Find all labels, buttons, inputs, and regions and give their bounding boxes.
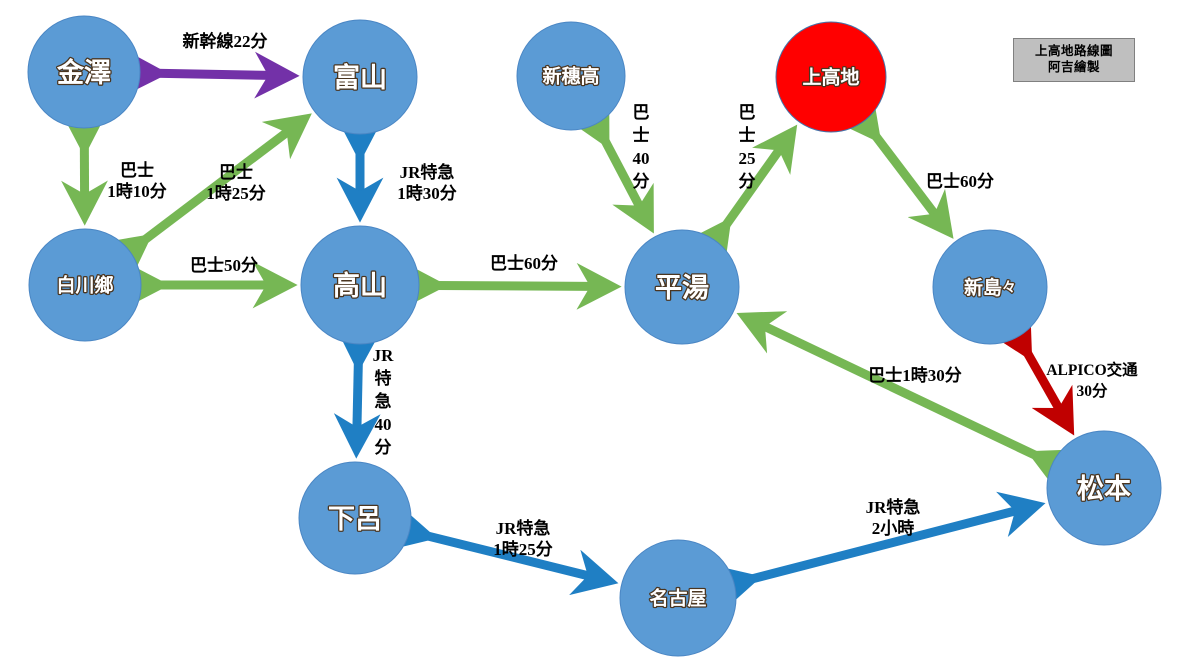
nodes-layer: 金澤富山新穗高上高地白川鄉高山平湯新島々下呂名古屋松本 <box>28 16 1161 656</box>
station-node-takayama[interactable]: 高山 <box>301 226 419 344</box>
station-node-nagoya[interactable]: 名古屋 <box>620 540 736 656</box>
station-node-toyama[interactable]: 富山 <box>303 20 417 134</box>
edge-label-kamikochi-shinshima: 巴士60分 <box>926 171 994 191</box>
edge-label-shinshima-matsumoto: ALPICO交通30分 <box>1046 360 1138 400</box>
route-edge-takayama-gero[interactable] <box>357 360 359 446</box>
edge-label-matsumoto-hirayu: 巴士1時30分 <box>868 365 962 385</box>
station-label: 上高地 <box>802 66 859 89</box>
station-node-kamikochi[interactable]: 上高地 <box>776 22 886 132</box>
legend-box: 上高地路線圖 阿吉繪製 <box>1013 38 1135 82</box>
station-node-shirakawa[interactable]: 白川鄉 <box>29 229 141 341</box>
edge-label-gero-nagoya: JR特急1時25分 <box>493 518 553 559</box>
station-label: 白川鄉 <box>56 274 113 297</box>
edge-label-hirayu-kamikochi: 巴士25分 <box>739 103 756 191</box>
station-label: 松本 <box>1077 474 1131 504</box>
route-edge-kanazawa-toyama[interactable] <box>156 73 287 75</box>
edge-label-takayama-hirayu: 巴士60分 <box>490 253 558 273</box>
edge-label-kanazawa-toyama: 新幹線22分 <box>183 31 268 51</box>
edges-layer <box>84 73 1068 580</box>
edge-label-nagoya-matsumoto: JR特急2小時 <box>866 497 921 538</box>
station-label: 金澤 <box>56 57 111 88</box>
route-canvas: 金澤富山新穗高上高地白川鄉高山平湯新島々下呂名古屋松本 新幹線22分巴士1時10… <box>0 0 1177 669</box>
route-edge-nagoya-matsumoto[interactable] <box>750 506 1034 579</box>
station-node-shinshima[interactable]: 新島々 <box>933 230 1047 344</box>
edge-label-shirakawa-takayama: 巴士50分 <box>190 255 258 275</box>
station-label: 下呂 <box>328 504 382 534</box>
station-node-matsumoto[interactable]: 松本 <box>1047 431 1161 545</box>
route-diagram: 金澤富山新穗高上高地白川鄉高山平湯新島々下呂名古屋松本 新幹線22分巴士1時10… <box>0 0 1177 669</box>
station-node-shinhotaka[interactable]: 新穗高 <box>517 22 625 130</box>
route-edge-takayama-hirayu[interactable] <box>435 285 609 286</box>
station-label: 富山 <box>333 62 387 93</box>
edge-label-shinhotaka-hirayu: 巴士40分 <box>633 103 650 191</box>
edge-label-kanazawa-shirakawa: 巴士1時10分 <box>107 160 167 201</box>
station-label: 新穗高 <box>542 65 599 88</box>
station-label: 高山 <box>333 270 387 301</box>
edge-label-takayama-gero: JR特急40分 <box>373 346 395 457</box>
legend-title-line: 上高地路線圖 <box>1022 43 1126 59</box>
legend-author-line: 阿吉繪製 <box>1022 59 1126 75</box>
edge-label-toyama-takayama: JR特急1時30分 <box>397 162 457 203</box>
station-node-kanazawa[interactable]: 金澤 <box>28 16 140 128</box>
station-label: 名古屋 <box>649 587 706 610</box>
station-node-gero[interactable]: 下呂 <box>299 462 411 574</box>
station-label: 平湯 <box>655 273 709 303</box>
route-edge-hirayu-kamikochi[interactable] <box>724 135 790 228</box>
station-node-hirayu[interactable]: 平湯 <box>625 230 739 344</box>
